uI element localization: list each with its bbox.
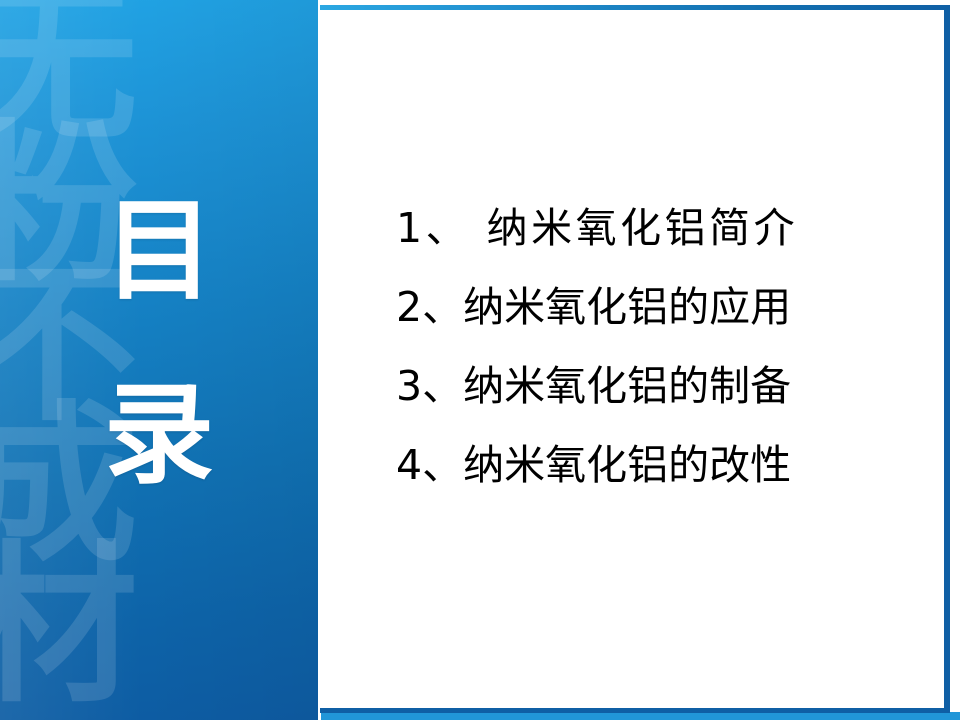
bottom-accent-strip xyxy=(321,712,960,720)
presentation-slide: 无 粉 不 成 材 目 录 1、 纳米氧化铝简介 2、纳米氧化铝的应用 3、纳米… xyxy=(0,0,960,720)
toc-item-3[interactable]: 3、纳米氧化铝的制备 xyxy=(396,366,916,407)
page-title-char-lu: 录 xyxy=(0,380,318,490)
content-top-border xyxy=(320,5,950,10)
toc-item-4[interactable]: 4、纳米氧化铝的改性 xyxy=(396,445,916,486)
toc-item-2[interactable]: 2、纳米氧化铝的应用 xyxy=(396,287,916,328)
content-panel: 1、 纳米氧化铝简介 2、纳米氧化铝的应用 3、纳米氧化铝的制备 4、纳米氧化铝… xyxy=(321,5,950,713)
page-title: 目 录 xyxy=(0,196,318,490)
left-blue-panel: 无 粉 不 成 材 目 录 xyxy=(0,0,318,720)
watermark-char-1: 无 xyxy=(0,0,138,138)
page-title-char-mu: 目 xyxy=(0,196,318,306)
watermark-char-5: 材 xyxy=(0,553,138,699)
toc-item-1[interactable]: 1、 纳米氧化铝简介 xyxy=(396,208,916,249)
content-bottom-border xyxy=(320,708,950,713)
table-of-contents: 1、 纳米氧化铝简介 2、纳米氧化铝的应用 3、纳米氧化铝的制备 4、纳米氧化铝… xyxy=(396,208,916,486)
